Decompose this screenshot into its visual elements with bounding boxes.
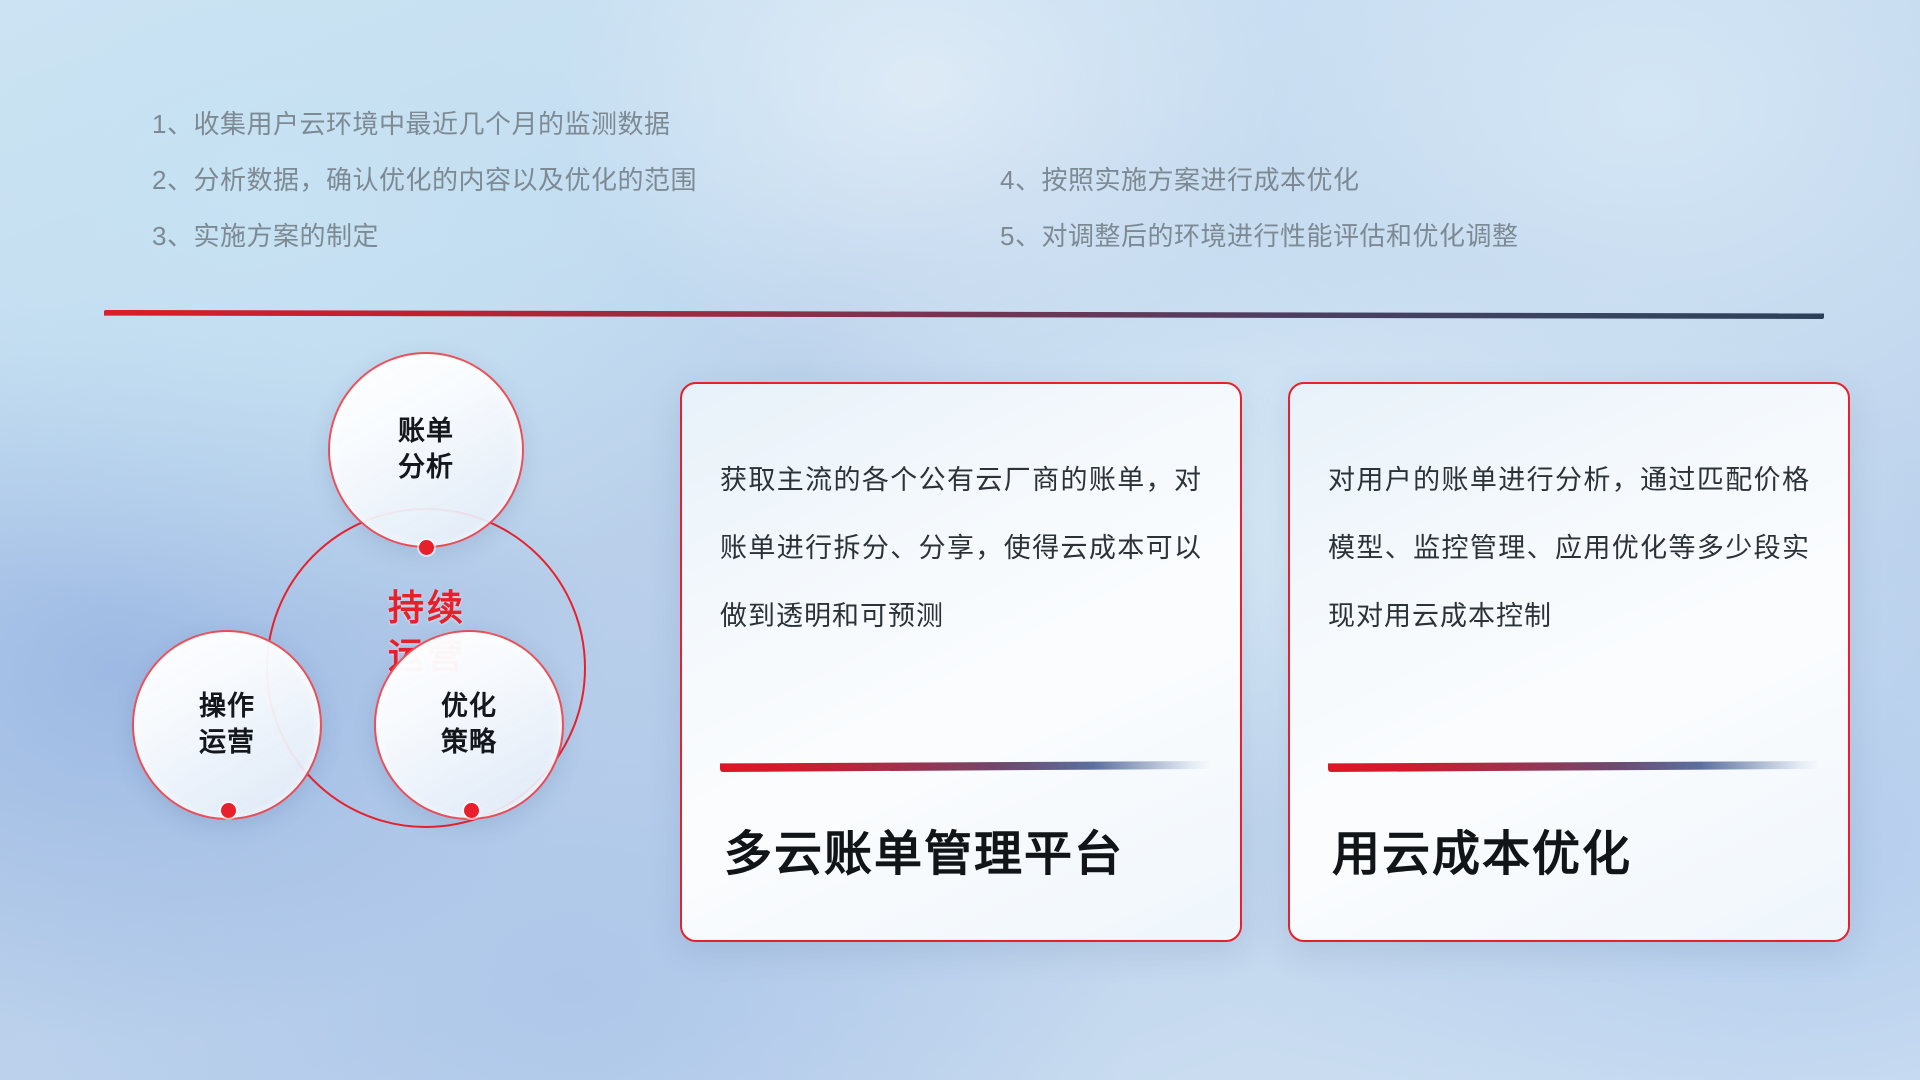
bubble-top-line-1: 账单 — [398, 414, 454, 450]
bubble-operations[interactable]: 操作 运营 — [132, 630, 322, 820]
node-dot-left-icon — [221, 803, 236, 818]
node-dot-top-icon — [419, 540, 434, 555]
card-2-title: 用云成本优化 — [1332, 814, 1810, 940]
steps-left-column: 1、收集用户云环境中最近几个月的监测数据 2、分析数据，确认优化的内容以及优化的… — [152, 96, 697, 264]
step-item-5: 5、对调整后的环境进行性能评估和优化调整 — [1000, 208, 1518, 264]
card-2-body: 对用户的账单进行分析，通过匹配价格模型、监控管理、应用优化等多少段实现对用云成本… — [1328, 446, 1810, 650]
card-1-divider — [720, 761, 1210, 772]
venn-diagram: 持续 运营 账单 分析 操作 运营 优化 策略 — [96, 340, 566, 930]
node-dot-right-icon — [464, 803, 479, 818]
steps-right-column: 4、按照实施方案进行成本优化 5、对调整后的环境进行性能评估和优化调整 — [1000, 152, 1518, 264]
step-item-2: 2、分析数据，确认优化的内容以及优化的范围 — [152, 152, 697, 208]
bubble-right-line-1: 优化 — [441, 689, 497, 725]
section-divider-rule — [104, 310, 1824, 319]
bubble-left-line-2: 运营 — [199, 725, 255, 761]
card-1-title: 多云账单管理平台 — [724, 814, 1202, 940]
bubble-left-line-1: 操作 — [199, 689, 255, 725]
bubble-bill-analysis[interactable]: 账单 分析 — [328, 352, 524, 548]
step-item-4: 4、按照实施方案进行成本优化 — [1000, 152, 1518, 208]
card-multi-cloud-billing[interactable]: 获取主流的各个公有云厂商的账单，对账单进行拆分、分享，使得云成本可以做到透明和可… — [680, 382, 1242, 942]
bubble-optimization-strategy[interactable]: 优化 策略 — [374, 630, 564, 820]
step-item-1: 1、收集用户云环境中最近几个月的监测数据 — [152, 96, 697, 152]
step-item-3: 3、实施方案的制定 — [152, 208, 697, 264]
venn-center-line-1: 持续 — [388, 584, 466, 632]
bubble-right-line-2: 策略 — [441, 725, 497, 761]
card-1-body: 获取主流的各个公有云厂商的账单，对账单进行拆分、分享，使得云成本可以做到透明和可… — [720, 446, 1202, 650]
card-cloud-cost-optimization[interactable]: 对用户的账单进行分析，通过匹配价格模型、监控管理、应用优化等多少段实现对用云成本… — [1288, 382, 1850, 942]
card-2-divider — [1328, 761, 1818, 772]
bubble-top-line-2: 分析 — [398, 450, 454, 486]
